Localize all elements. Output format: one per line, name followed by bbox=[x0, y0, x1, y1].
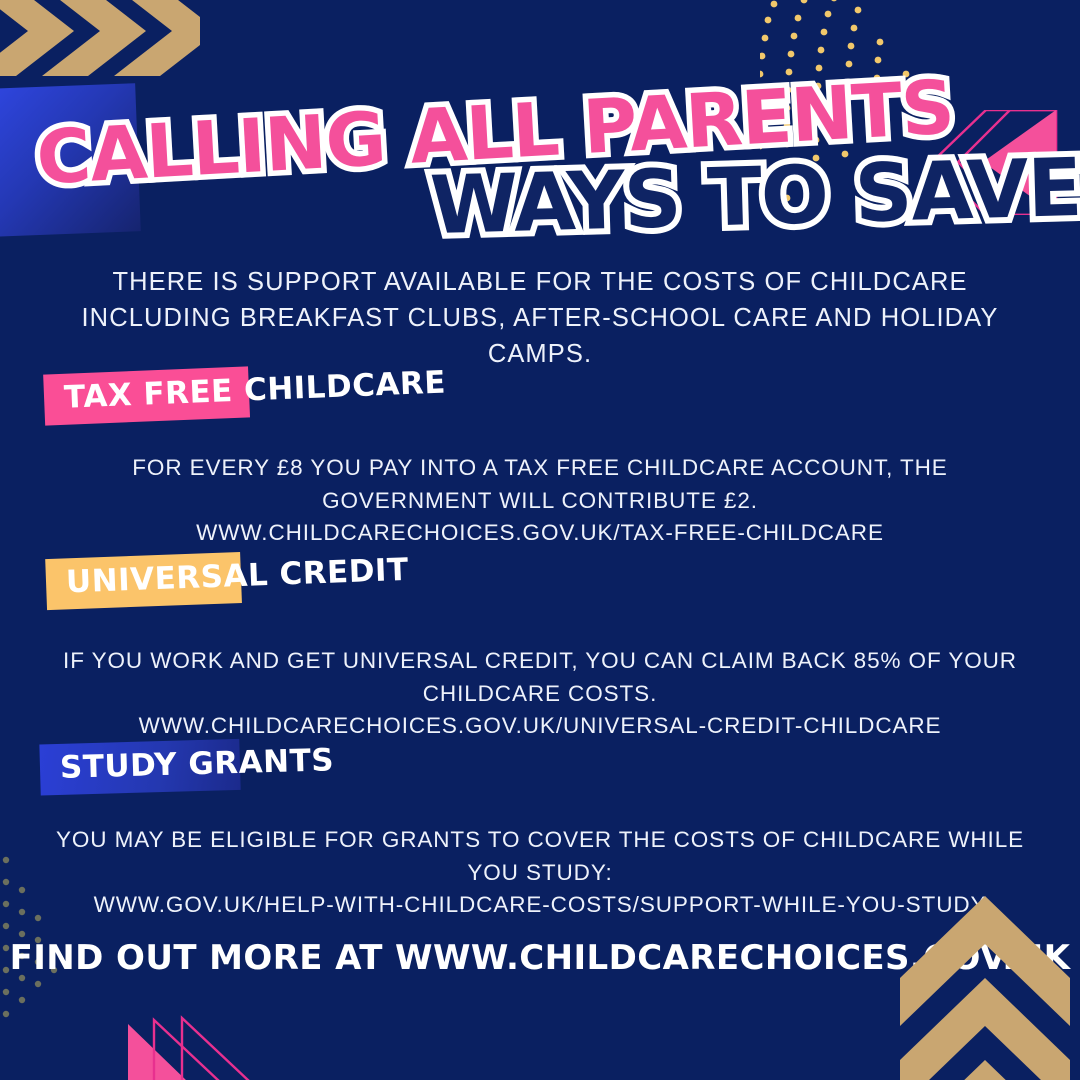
description-tax-free-childcare: FOR EVERY £8 YOU PAY INTO A TAX FREE CHI… bbox=[50, 452, 1030, 550]
url-study-grants[interactable]: WWW.GOV.UK/HELP-WITH-CHILDCARE-COSTS/SUP… bbox=[50, 889, 1030, 922]
description-line: FOR EVERY £8 YOU PAY INTO A TAX FREE CHI… bbox=[50, 452, 1030, 517]
url-universal-credit[interactable]: WWW.CHILDCARECHOICES.GOV.UK/UNIVERSAL-CR… bbox=[50, 710, 1030, 743]
description-line: IF YOU WORK AND GET UNIVERSAL CREDIT, YO… bbox=[50, 645, 1030, 710]
poster-canvas: CALLING ALL PARENTS WAYS TO SAVE THERE I… bbox=[0, 0, 1080, 1080]
headline-line-2: WAYS TO SAVE bbox=[429, 141, 1080, 252]
url-tax-free-childcare[interactable]: WWW.CHILDCARECHOICES.GOV.UK/TAX-FREE-CHI… bbox=[50, 517, 1030, 550]
badge-label: STUDY GRANTS bbox=[60, 742, 335, 786]
pink-triangles-right-icon bbox=[128, 1010, 308, 1080]
description-study-grants: YOU MAY BE ELIGIBLE FOR GRANTS TO COVER … bbox=[50, 824, 1030, 922]
description-universal-credit: IF YOU WORK AND GET UNIVERSAL CREDIT, YO… bbox=[50, 645, 1030, 743]
intro-text: THERE IS SUPPORT AVAILABLE FOR THE COSTS… bbox=[70, 264, 1010, 373]
badge-study-grants: STUDY GRANTS bbox=[39, 736, 360, 796]
headline: CALLING ALL PARENTS WAYS TO SAVE bbox=[0, 88, 1080, 238]
cta-text[interactable]: FIND OUT MORE AT WWW.CHILDCARECHOICES.GO… bbox=[0, 938, 1080, 978]
badge-universal-credit: UNIVERSAL CREDIT bbox=[45, 545, 435, 610]
description-line: YOU MAY BE ELIGIBLE FOR GRANTS TO COVER … bbox=[50, 824, 1030, 889]
